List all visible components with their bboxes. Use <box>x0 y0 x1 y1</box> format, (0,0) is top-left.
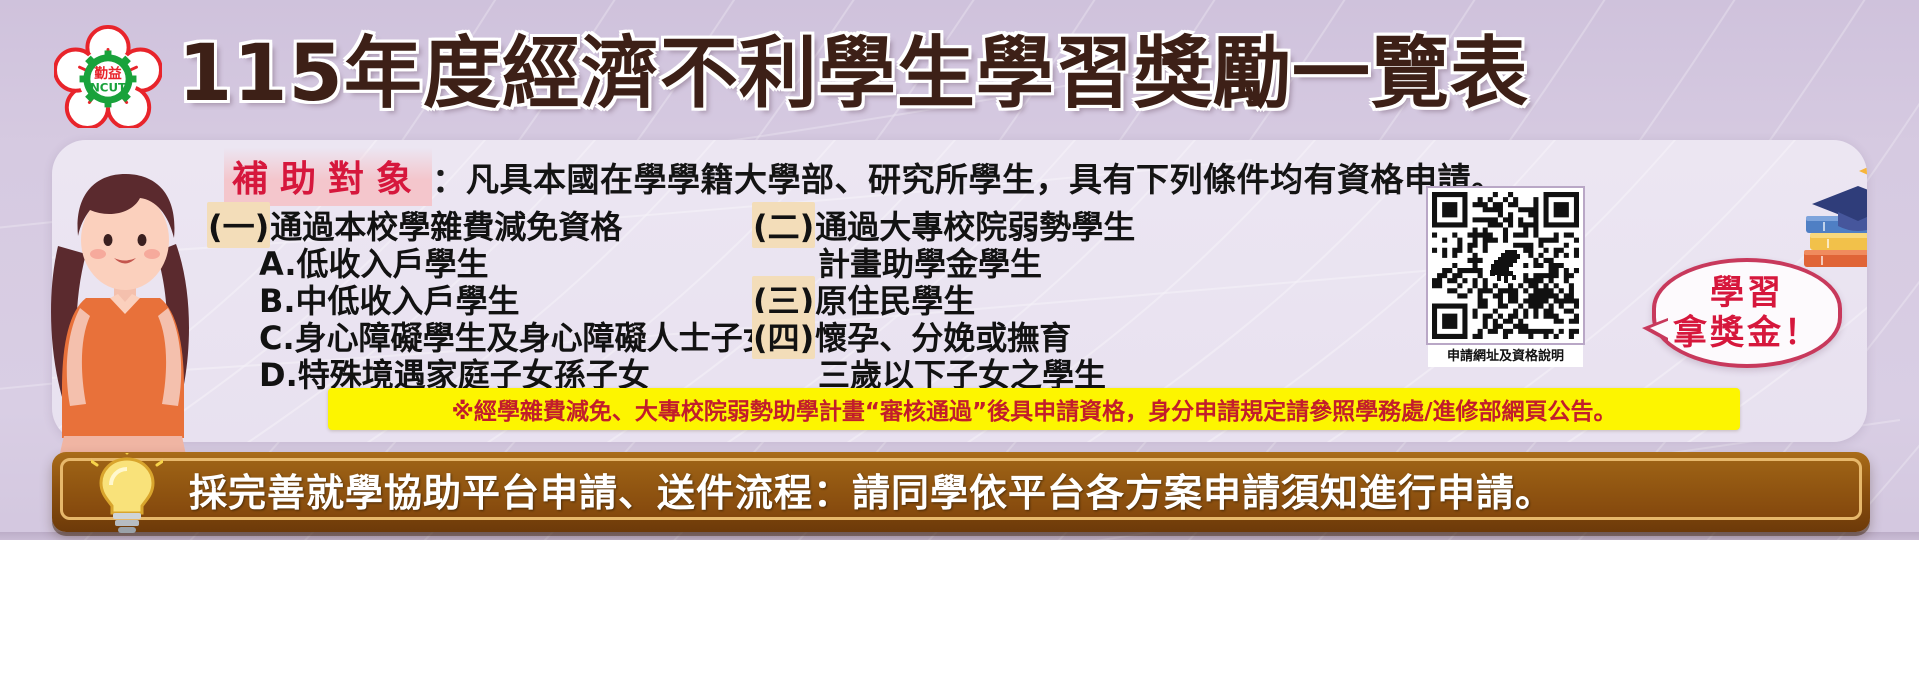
condition-marker: (四) <box>752 313 815 359</box>
qr-code-block[interactable]: 申請網址及資格說明 <box>1428 188 1583 367</box>
condition-marker: (二) <box>752 202 815 248</box>
subtitle-colon: ： <box>432 153 466 202</box>
svg-text:勤益: 勤益 <box>94 65 122 82</box>
note-text: ※經學雜費減免、大專校院弱勢助學計畫“審核通過”後具申請資格，身分申請規定請參照… <box>452 392 1617 426</box>
subtitle-row: 補助對象 ： 凡具本國在學學籍大學部、研究所學生，具有下列條件均有資格申請。 <box>224 152 1505 202</box>
subtitle-description: 凡具本國在學學籍大學部、研究所學生，具有下列條件均有資格申請。 <box>466 153 1505 201</box>
dinosaur-icon <box>1484 248 1528 288</box>
bottom-banner-text: 採完善就學協助平台申請、送件流程：請同學依平台各方案申請須知進行申請。 <box>189 462 1554 517</box>
conditions-column-left: (一)通過本校學雜費減免資格A.低收入戶學生B.中低收入戶學生C.身心障礙學生及… <box>207 202 752 387</box>
condition-line: C.身心障礙學生及身心障礙人士子女 <box>207 313 752 350</box>
condition-line: (三)原住民學生 <box>752 276 1172 313</box>
student-illustration <box>28 148 238 468</box>
qr-code-caption: 申請網址及資格說明 <box>1428 343 1583 367</box>
header: 勤益 NCUT 115年度經濟不利學生學習獎勵一覽表 <box>0 0 1919 148</box>
page-bottom-white-edge <box>0 540 1919 680</box>
page-title: 115年度經濟不利學生學習獎勵一覽表 <box>178 22 1529 126</box>
bubble-line-2: 拿獎金！ <box>1673 313 1821 353</box>
condition-line: (四)懷孕、分娩或撫育 <box>752 313 1172 350</box>
subtitle-label: 補助對象 <box>224 148 432 206</box>
reward-speech-bubble: 學習 拿獎金！ <box>1652 258 1842 368</box>
conditions-column-right: (二)通過大專校院弱勢學生計畫助學金學生(三)原住民學生(四)懷孕、分娩或撫育三… <box>752 202 1172 387</box>
bottom-banner-inner: 採完善就學協助平台申請、送件流程：請同學依平台各方案申請須知進行申請。 <box>60 458 1862 520</box>
condition-line: A.低收入戶學生 <box>207 239 752 276</box>
poster-root: 勤益 NCUT 115年度經濟不利學生學習獎勵一覽表 <box>0 0 1919 680</box>
bottom-banner: 採完善就學協助平台申請、送件流程：請同學依平台各方案申請須知進行申請。 <box>52 452 1870 532</box>
svg-text:NCUT: NCUT <box>90 81 126 95</box>
qr-code-icon[interactable] <box>1428 188 1583 343</box>
main-panel: 補助對象 ： 凡具本國在學學籍大學部、研究所學生，具有下列條件均有資格申請。 (… <box>52 140 1867 442</box>
note-strip: ※經學雜費減免、大專校院弱勢助學計畫“審核通過”後具申請資格，身分申請規定請參照… <box>328 388 1740 430</box>
condition-line: (二)通過大專校院弱勢學生 <box>752 202 1172 239</box>
condition-line: B.中低收入戶學生 <box>207 276 752 313</box>
bubble-line-1: 學習 <box>1710 273 1784 313</box>
bubble-tail-inner <box>1650 320 1670 339</box>
ncut-logo-icon: 勤益 NCUT <box>54 24 162 128</box>
condition-line: (一)通過本校學雜費減免資格 <box>207 202 752 239</box>
lightbulb-icon <box>91 453 163 535</box>
